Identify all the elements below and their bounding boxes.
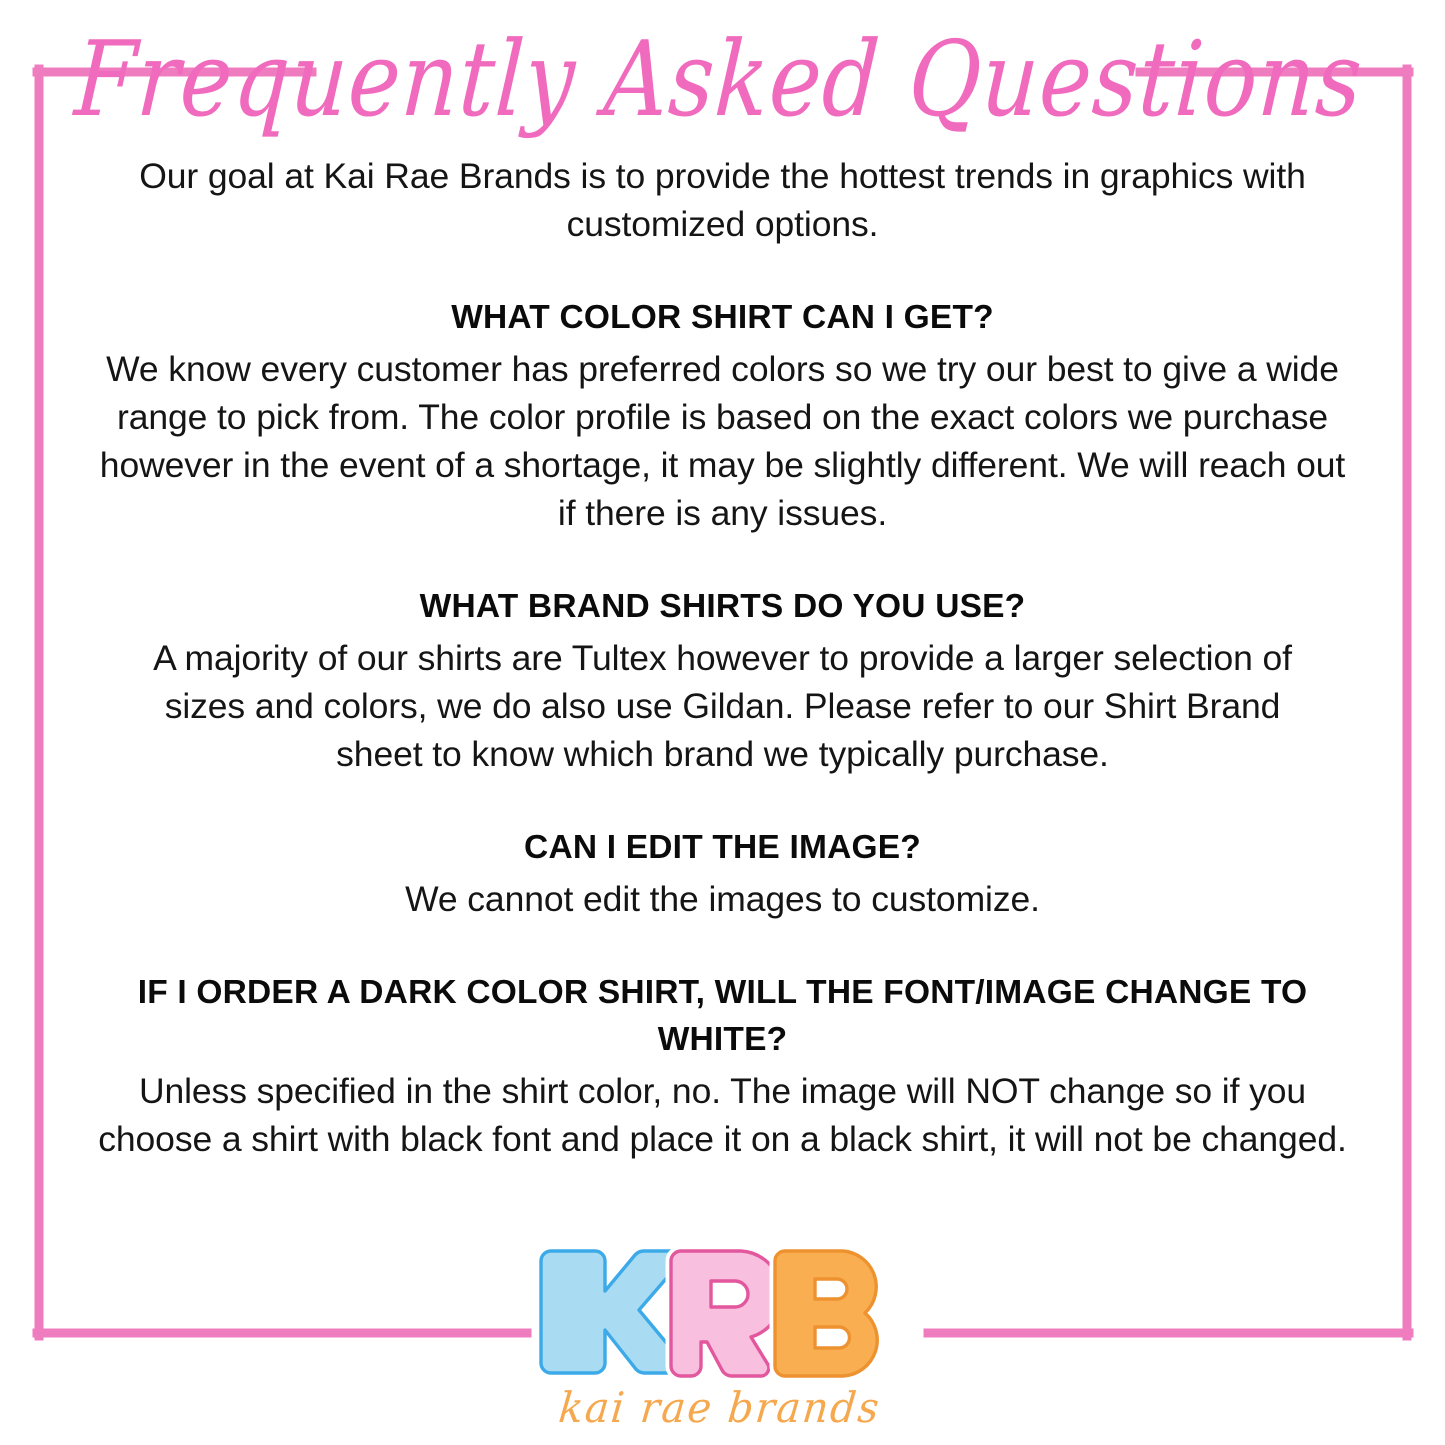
faq-item-1: WHAT COLOR SHIRT CAN I GET? We know ever… <box>96 294 1349 537</box>
logo-letter-k-icon <box>541 1251 681 1373</box>
faq-question-3: CAN I EDIT THE IMAGE? <box>96 824 1349 871</box>
faq-answer-2: A majority of our shirts are Tultex howe… <box>96 634 1349 778</box>
brand-logo: kai rae brands <box>0 1243 1445 1383</box>
faq-question-1: WHAT COLOR SHIRT CAN I GET? <box>96 294 1349 341</box>
faq-answer-1: We know every customer has preferred col… <box>96 345 1349 537</box>
faq-content: Our goal at Kai Rae Brands is to provide… <box>96 152 1349 1163</box>
logo-letter-b-icon <box>775 1251 877 1376</box>
faq-answer-4: Unless specified in the shirt color, no.… <box>96 1067 1349 1163</box>
faq-item-3: CAN I EDIT THE IMAGE? We cannot edit the… <box>96 824 1349 923</box>
faq-answer-3: We cannot edit the images to customize. <box>96 875 1349 923</box>
faq-item-2: WHAT BRAND SHIRTS DO YOU USE? A majority… <box>96 583 1349 778</box>
faq-item-4: IF I ORDER A DARK COLOR SHIRT, WILL THE … <box>96 969 1349 1163</box>
faq-question-4: IF I ORDER A DARK COLOR SHIRT, WILL THE … <box>96 969 1349 1063</box>
logo-letter-r-icon <box>671 1251 782 1376</box>
logo-tagline: kai rae brands <box>0 1381 1445 1436</box>
faq-question-2: WHAT BRAND SHIRTS DO YOU USE? <box>96 583 1349 630</box>
krb-logo-letters <box>533 1243 913 1383</box>
intro-paragraph: Our goal at Kai Rae Brands is to provide… <box>96 152 1349 248</box>
page-title: Frequently Asked Questions <box>0 18 1445 141</box>
